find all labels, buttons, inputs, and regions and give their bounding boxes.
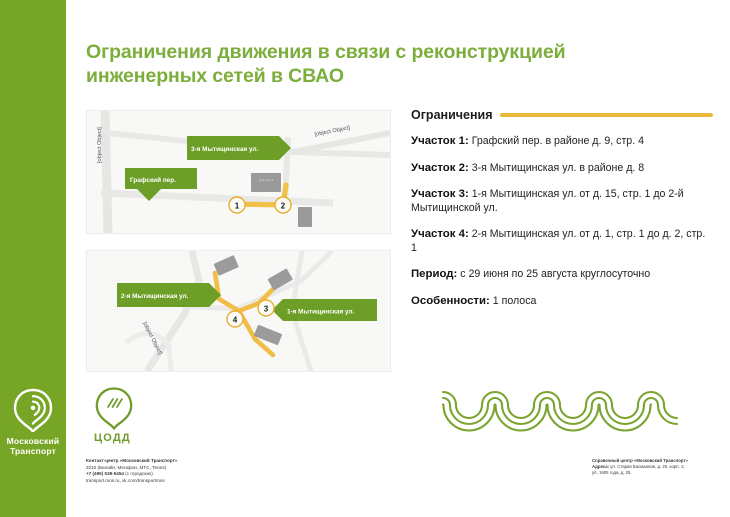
restriction-value: 3-я Мытищинская ул. в районе д. 8 bbox=[472, 162, 644, 174]
restrictions-panel: Ограничения Участок 1: Графский пер. в р… bbox=[411, 108, 713, 308]
contact-center-phone-short: 3210 (Билайн, Мегафон, МТС, Теле2) bbox=[86, 465, 326, 472]
map-top[interactable]: д. 9, стр. 4 3-я Мытищинская ул. Графски… bbox=[86, 110, 391, 234]
restrictions-heading-row: Ограничения bbox=[411, 108, 713, 122]
contacts-left: Контакт-центр «Московский Транспорт» 321… bbox=[86, 458, 326, 484]
map-banner-label: Графский пер. bbox=[130, 176, 176, 184]
map-pin-icon bbox=[13, 388, 53, 432]
restriction-row-1: Участок 1: Графский пер. в районе д. 9, … bbox=[411, 135, 713, 149]
marker-number: 1 bbox=[235, 201, 240, 210]
map-marker-2[interactable]: 2 bbox=[275, 197, 291, 213]
moscow-transport-logo-name: Московский Транспорт bbox=[7, 436, 60, 456]
restriction-value: 1 полоса bbox=[493, 295, 537, 307]
restriction-row-3: Участок 3: 1-я Мытищинская ул. от д. 15,… bbox=[411, 188, 713, 215]
logo-name-line2: Транспорт bbox=[10, 446, 56, 456]
restriction-label: Особенности: bbox=[411, 295, 490, 307]
marker-number: 4 bbox=[233, 315, 238, 324]
info-center-address-2: ул. 1905 года, д. 25. bbox=[592, 470, 730, 476]
restriction-label: Участок 4: bbox=[411, 228, 469, 240]
restriction-row-period: Период: с 29 июня по 25 августа круглосу… bbox=[411, 268, 713, 282]
map-marker-4[interactable]: 4 bbox=[227, 311, 243, 327]
contacts-right: Справочный центр «Московский Транспорт» … bbox=[592, 458, 730, 477]
restriction-value: Графский пер. в районе д. 9, стр. 4 bbox=[472, 135, 644, 147]
restrictions-heading: Ограничения bbox=[411, 108, 493, 122]
wave-decoration bbox=[437, 386, 730, 432]
codd-logo: ЦОДД bbox=[88, 386, 158, 444]
map-top-graphic: д. 9, стр. 4 3-я Мытищинская ул. Графски… bbox=[87, 111, 390, 233]
map-banner-3ya: 3-я Мытищинская ул. bbox=[187, 136, 291, 160]
restriction-row-4: Участок 4: 2-я Мытищинская ул. от д. 1, … bbox=[411, 228, 713, 255]
map-banner-label: 2-я Мытищинская ул. bbox=[121, 293, 189, 300]
map-bottom-graphic: 2-я Мытищинская ул. 1-я Мытищинская ул. … bbox=[87, 251, 390, 371]
marker-number: 2 bbox=[281, 201, 286, 210]
address-label: Адреса: bbox=[592, 464, 609, 469]
restriction-label: Период: bbox=[411, 268, 457, 280]
codd-logo-name: ЦОДД bbox=[94, 432, 158, 444]
map-bottom[interactable]: 2-я Мытищинская ул. 1-я Мытищинская ул. … bbox=[86, 250, 391, 372]
poster-page: Московский Транспорт Ограничения движени… bbox=[0, 0, 730, 517]
restriction-label: Участок 3: bbox=[411, 188, 469, 200]
address-value-1: ул. Старая Басманная, д. 20, корп. 1; bbox=[609, 464, 684, 469]
marker-number: 3 bbox=[264, 304, 269, 313]
map-marker-1[interactable]: 1 bbox=[229, 197, 245, 213]
moscow-transport-logo: Московский Транспорт bbox=[0, 388, 66, 456]
logo-name-line1: Московский bbox=[7, 436, 60, 446]
contact-center-phone-city: +7 (495) 539-5454 (с городских) bbox=[86, 471, 326, 478]
map-banner-2ya: 2-я Мытищинская ул. bbox=[117, 283, 221, 307]
restriction-label: Участок 2: bbox=[411, 162, 469, 174]
contact-center-web[interactable]: transport.mos.ru, vk.com/transportmos bbox=[86, 478, 326, 485]
map-banner-label: 3-я Мытищинская ул. bbox=[191, 146, 259, 153]
phone-number: +7 (495) 539-5454 bbox=[86, 471, 124, 476]
map-banner-label: 1-я Мытищинская ул. bbox=[287, 309, 355, 316]
restriction-row-features: Особенности: 1 полоса bbox=[411, 295, 713, 309]
codd-pin-icon bbox=[94, 386, 134, 430]
restriction-row-2: Участок 2: 3-я Мытищинская ул. в районе … bbox=[411, 162, 713, 176]
map-banner-1ya: 1-я Мытищинская ул. bbox=[272, 299, 377, 321]
street-label-prt-mira: [object Object] bbox=[97, 127, 103, 163]
left-brand-sidebar: Московский Транспорт bbox=[0, 0, 66, 517]
map-marker-3[interactable]: 3 bbox=[258, 300, 274, 316]
building-label: д. 9, стр. 4 bbox=[259, 178, 273, 182]
page-title: Ограничения движения в связи с реконстру… bbox=[86, 40, 646, 88]
phone-note: (с городских) bbox=[124, 471, 153, 476]
restriction-value: с 29 июня по 25 августа круглосуточно bbox=[460, 268, 650, 280]
wave-pattern-icon bbox=[437, 386, 730, 432]
restriction-label: Участок 1: bbox=[411, 135, 469, 147]
contact-center-title: Контакт-центр «Московский Транспорт» bbox=[86, 458, 326, 465]
heading-rule bbox=[500, 113, 714, 117]
